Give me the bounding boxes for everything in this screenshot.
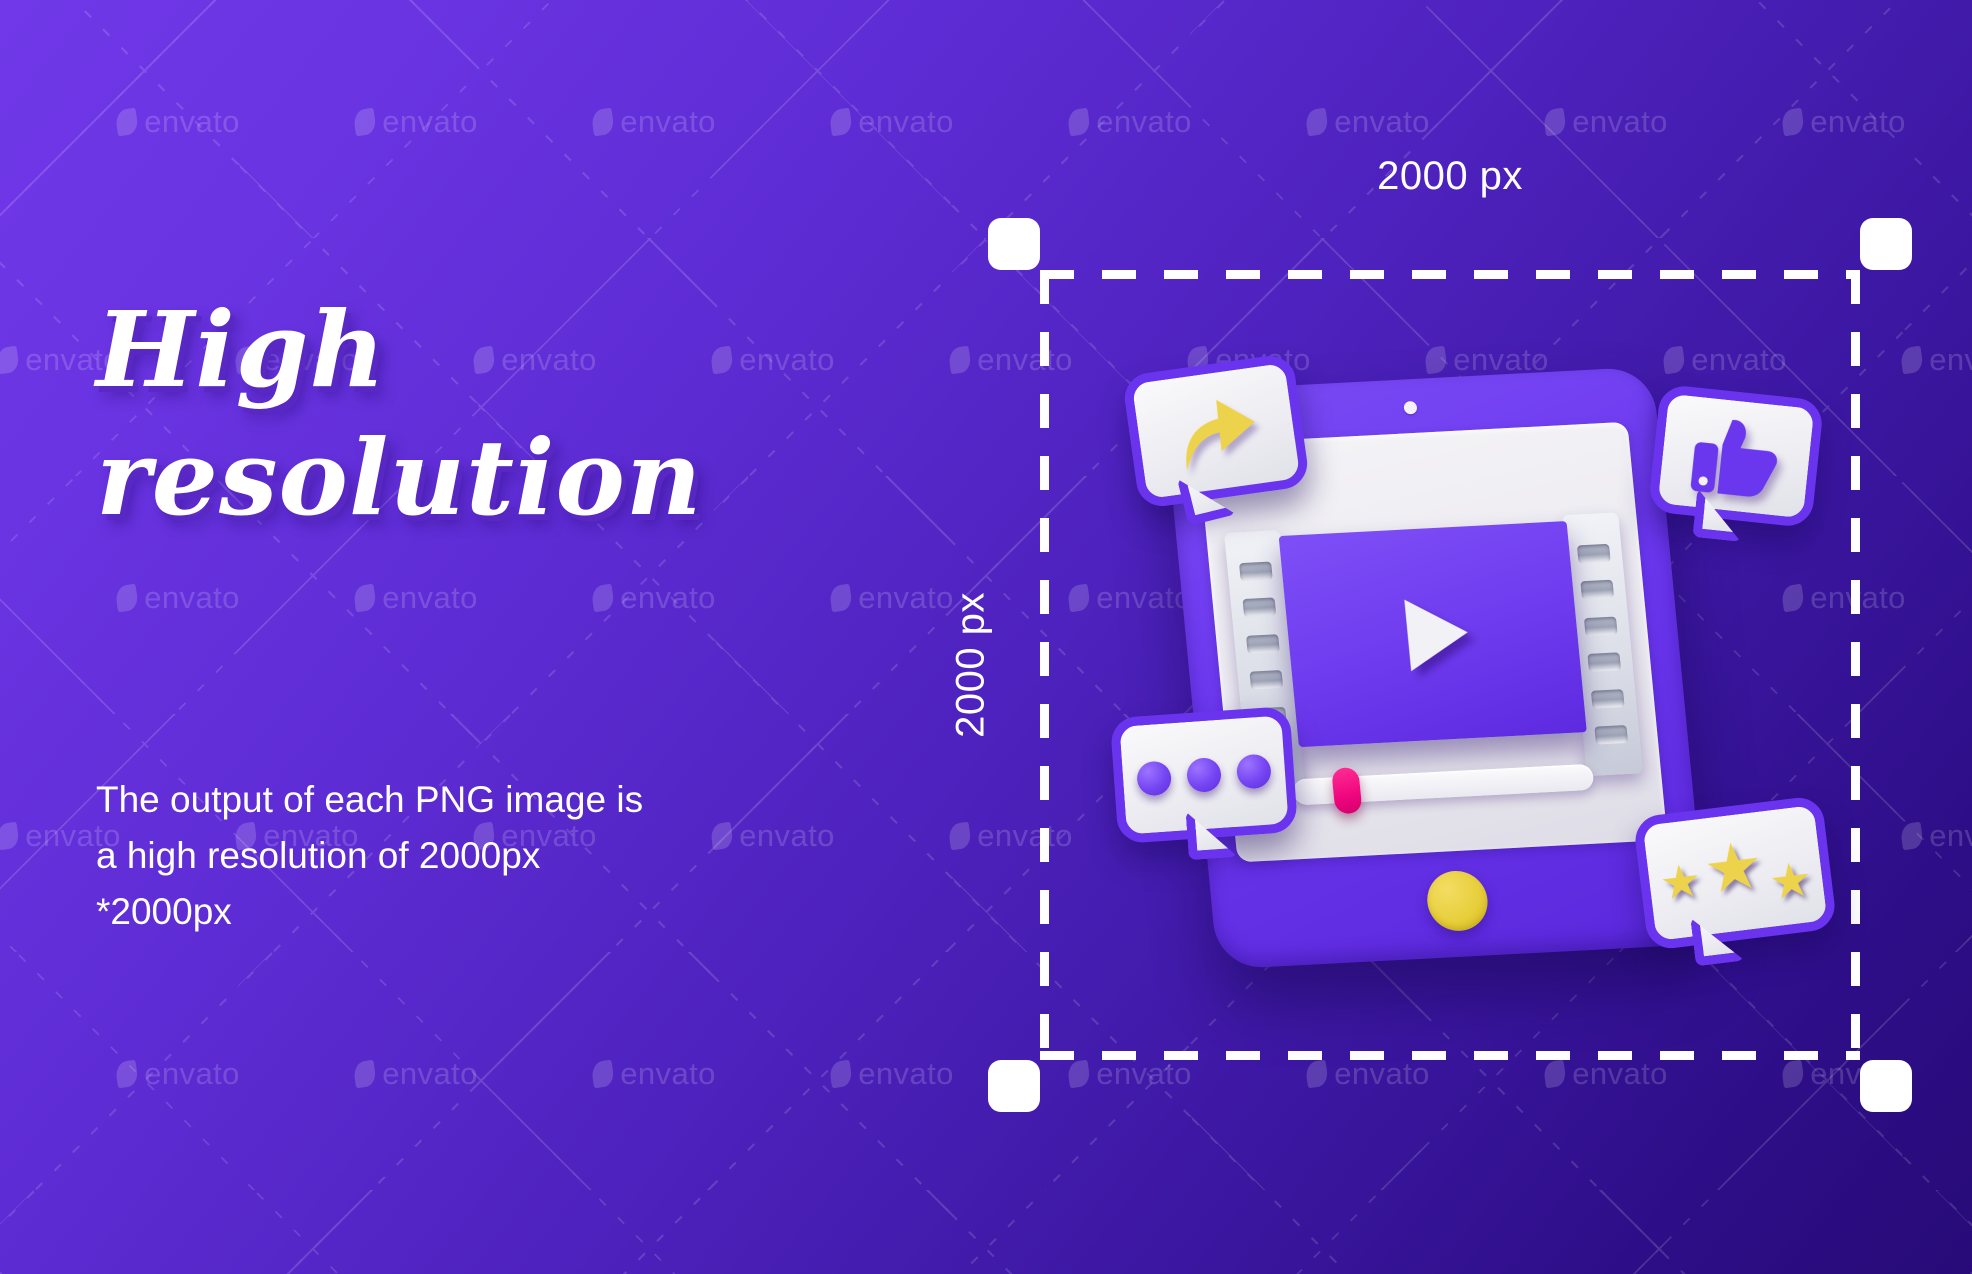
envato-watermark: envato — [830, 1056, 953, 1092]
sprocket-hole — [1243, 598, 1277, 618]
envato-watermark-text: envato — [1572, 104, 1667, 140]
envato-leaf-icon — [591, 584, 615, 613]
envato-watermark-text: envato — [739, 818, 834, 854]
envato-leaf-icon — [0, 346, 20, 375]
envato-watermark-text: envato — [1334, 1056, 1429, 1092]
envato-watermark: envato — [1068, 104, 1191, 140]
share-bubble[interactable] — [1122, 353, 1311, 510]
envato-leaf-icon — [948, 822, 972, 851]
envato-watermark-text: envato — [1334, 104, 1429, 140]
envato-watermark: envato — [1068, 1056, 1191, 1092]
envato-watermark: envato — [711, 818, 834, 854]
resize-handle-top-left[interactable] — [988, 218, 1040, 270]
envato-watermark: envato — [1544, 1056, 1667, 1092]
play-triangle-icon[interactable] — [1404, 596, 1471, 671]
frame-edge-top — [1040, 270, 1860, 279]
envato-watermark: envato — [1782, 104, 1905, 140]
share-arrow-icon — [1169, 387, 1263, 476]
sprocket-hole — [1239, 561, 1273, 581]
star-rating: ★ ★ ★ — [1656, 831, 1814, 915]
dot — [1136, 760, 1172, 796]
envato-watermark: envato — [592, 1056, 715, 1092]
envato-watermark-text: envato — [0, 1056, 2, 1092]
three-dots-icon — [1136, 753, 1272, 796]
progress-slider[interactable] — [1292, 764, 1594, 806]
envato-leaf-icon — [1900, 346, 1924, 375]
envato-watermark: envato — [0, 580, 2, 616]
envato-watermark: envato — [354, 104, 477, 140]
video-player[interactable] — [1279, 521, 1587, 747]
envato-watermark: envato — [1901, 818, 1972, 854]
envato-leaf-icon — [1305, 108, 1329, 137]
envato-leaf-icon — [115, 108, 139, 137]
envato-watermark: envato — [354, 1056, 477, 1092]
envato-watermark-text: envato — [382, 580, 477, 616]
envato-watermark-text: envato — [858, 1056, 953, 1092]
envato-watermark-text: envato — [620, 1056, 715, 1092]
envato-watermark: envato — [354, 580, 477, 616]
envato-watermark: envato — [830, 580, 953, 616]
thumbs-up-icon — [1686, 410, 1786, 501]
envato-watermark-text: envato — [382, 104, 477, 140]
envato-watermark-text: envato — [620, 580, 715, 616]
envato-leaf-icon — [1067, 1060, 1091, 1089]
envato-leaf-icon — [829, 1060, 853, 1089]
envato-watermark-text: envato — [1572, 1056, 1667, 1092]
promo-banner: envatoenvatoenvatoenvatoenvatoenvatoenva… — [0, 0, 1972, 1274]
envato-watermark: envato — [1306, 104, 1429, 140]
sprocket-hole — [1250, 670, 1284, 690]
frame-edge-right — [1851, 270, 1860, 1060]
envato-watermark: envato — [116, 1056, 239, 1092]
copy-block: High resolution — [96, 286, 796, 542]
envato-watermark: envato — [116, 104, 239, 140]
envato-leaf-icon — [1067, 108, 1091, 137]
envato-leaf-icon — [115, 1060, 139, 1089]
envato-watermark: envato — [830, 104, 953, 140]
envato-watermark: envato — [116, 580, 239, 616]
envato-watermark-text: envato — [144, 580, 239, 616]
envato-watermark: envato — [592, 104, 715, 140]
envato-watermark-text: envato — [144, 104, 239, 140]
envato-watermark-text: envato — [144, 1056, 239, 1092]
headline-line-1: High — [96, 288, 386, 411]
envato-leaf-icon — [1543, 108, 1567, 137]
sprocket-hole — [1246, 634, 1280, 654]
envato-watermark-text: envato — [858, 580, 953, 616]
sprocket-hole — [1594, 725, 1628, 745]
envato-watermark: envato — [1544, 104, 1667, 140]
slider-handle[interactable] — [1331, 767, 1362, 814]
frame-edge-left — [1040, 270, 1049, 1060]
envato-watermark-text: envato — [1929, 342, 1972, 378]
envato-watermark-text: envato — [1096, 104, 1191, 140]
envato-watermark: envato — [1306, 1056, 1429, 1092]
sprocket-hole — [1584, 616, 1618, 636]
envato-leaf-icon — [829, 108, 853, 137]
envato-leaf-icon — [1900, 822, 1924, 851]
envato-leaf-icon — [948, 346, 972, 375]
envato-leaf-icon — [115, 584, 139, 613]
dot — [1186, 757, 1222, 793]
envato-leaf-icon — [591, 108, 615, 137]
camera-dot-icon — [1403, 401, 1417, 415]
envato-leaf-icon — [1543, 1060, 1567, 1089]
envato-leaf-icon — [1305, 1060, 1329, 1089]
dot — [1236, 753, 1272, 789]
star-icon: ★ — [1700, 831, 1767, 904]
dimension-label-width: 2000 px — [1040, 154, 1860, 199]
sprocket-hole — [1587, 653, 1621, 673]
frame-edge-bottom — [1040, 1051, 1860, 1060]
envato-watermark-text: envato — [382, 1056, 477, 1092]
rating-bubble[interactable]: ★ ★ ★ — [1633, 795, 1838, 951]
envato-watermark: envato — [0, 104, 2, 140]
envato-watermark-text: envato — [0, 580, 2, 616]
envato-leaf-icon — [1781, 1060, 1805, 1089]
envato-watermark-text: envato — [1810, 104, 1905, 140]
envato-leaf-icon — [353, 584, 377, 613]
video-tablet-illustration: ★ ★ ★ — [1130, 330, 1810, 1010]
headline-line-2: resolution — [96, 414, 796, 542]
resize-handle-top-right[interactable] — [1860, 218, 1912, 270]
envato-leaf-icon — [710, 822, 734, 851]
envato-leaf-icon — [1781, 108, 1805, 137]
dimension-label-height: 2000 px — [948, 592, 993, 738]
comment-bubble[interactable] — [1110, 706, 1298, 844]
sprocket-hole — [1577, 543, 1611, 563]
envato-watermark: envato — [0, 1056, 2, 1092]
envato-watermark: envato — [1901, 342, 1972, 378]
envato-watermark-text: envato — [1096, 1056, 1191, 1092]
resize-handle-bottom-right[interactable] — [1860, 1060, 1912, 1112]
star-icon: ★ — [1766, 856, 1815, 909]
home-button[interactable] — [1425, 869, 1491, 932]
sprocket-hole — [1591, 689, 1625, 709]
sprocket-hole — [1580, 580, 1614, 600]
envato-leaf-icon — [0, 822, 20, 851]
envato-leaf-icon — [353, 1060, 377, 1089]
envato-watermark-text: envato — [620, 104, 715, 140]
envato-watermark: envato — [592, 580, 715, 616]
envato-leaf-icon — [829, 584, 853, 613]
page-title: High resolution — [96, 286, 796, 542]
star-icon: ★ — [1657, 856, 1704, 907]
resize-handle-bottom-left[interactable] — [988, 1060, 1040, 1112]
like-bubble[interactable] — [1648, 384, 1824, 528]
body-paragraph: The output of each PNG image is a high r… — [96, 772, 656, 940]
envato-leaf-icon — [591, 1060, 615, 1089]
envato-watermark-text: envato — [858, 104, 953, 140]
envato-watermark-text: envato — [0, 104, 2, 140]
envato-watermark-text: envato — [1929, 818, 1972, 854]
envato-leaf-icon — [353, 108, 377, 137]
